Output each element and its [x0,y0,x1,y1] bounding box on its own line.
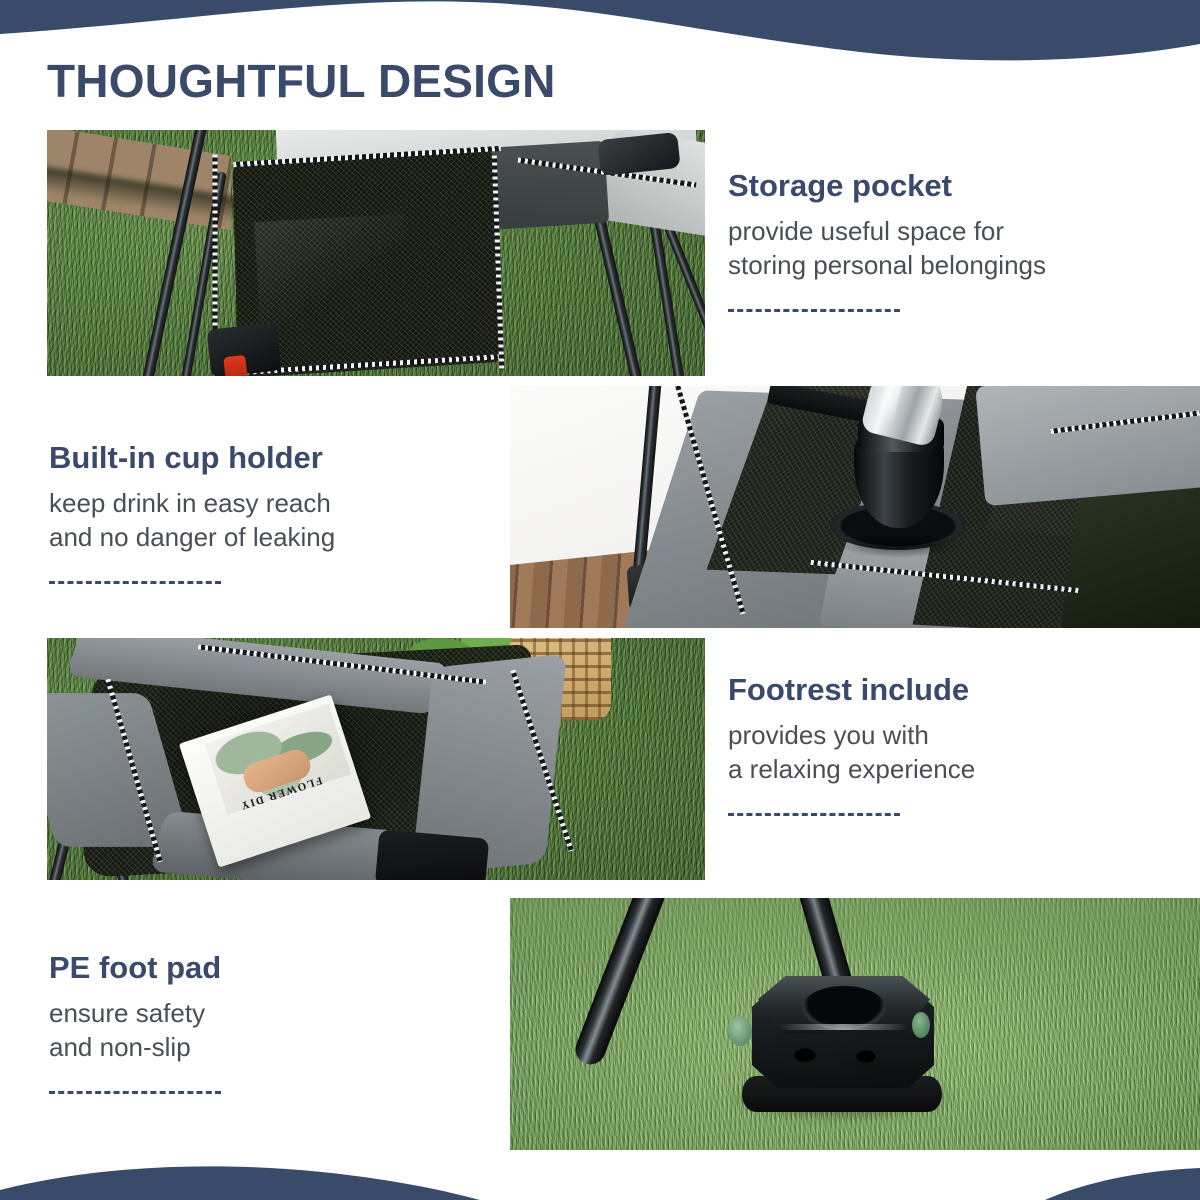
feature-body-line: and non-slip [49,1030,221,1065]
feature-body: ensure safety and non-slip [49,996,221,1065]
pe-foot-pad-hole-right [856,1050,876,1063]
feature-heading: Storage pocket [728,168,1046,205]
feature-body: keep drink in easy reach and no danger o… [49,486,335,555]
navy-wave-bottom-right [1045,1168,1200,1200]
feature-body: provide useful space for storing persona… [728,214,1046,283]
feature-body-line: a relaxing experience [728,752,975,787]
mesh-pocket-fold [254,214,410,332]
feature-body-line: keep drink in easy reach [49,486,335,521]
armrest-flap-right [975,386,1200,506]
dashed-rule [728,813,900,816]
cup-holder-shadow [836,536,964,558]
feature-body-line: and no danger of leaking [49,520,335,555]
navy-wave-bottom-left [0,1169,470,1200]
feature-heading: PE foot pad [49,950,221,987]
feature-image-storage-pocket [47,130,705,376]
feature-text-storage-pocket: Storage pocket provide useful space for … [728,168,1046,312]
pe-foot-pad-hole-left [794,1048,816,1062]
feature-body-line: provides you with [728,718,975,753]
feature-image-pe-foot-pad [510,898,1200,1150]
green-rivet-right [912,1012,930,1038]
feature-image-cup-holder [510,386,1200,628]
red-release-button [223,355,248,376]
footrest-corner-black [375,829,489,880]
feature-heading: Footrest include [728,672,975,709]
feature-text-cup-holder: Built-in cup holder keep drink in easy r… [49,440,335,584]
navy-wave-bottom-left-main [0,1166,480,1200]
feature-body-line: provide useful space for [728,214,1046,249]
page-title: THOUGHTFUL DESIGN [47,58,556,104]
feature-body-line: storing personal belongings [728,248,1046,283]
green-rivet-left [728,1016,752,1046]
navy-wave-top [0,0,1200,60]
dashed-rule [728,309,900,312]
feature-image-footrest: FLOWER DIY [47,638,705,880]
infographic-page: THOUGHTFUL DESIGN [0,0,1200,1200]
feature-text-pe-foot-pad: PE foot pad ensure safety and non-slip [49,950,221,1094]
pe-foot-pad-highlight [778,1024,908,1030]
dashed-rule [49,581,221,584]
feature-text-footrest: Footrest include provides you with a rel… [728,672,975,816]
feature-heading: Built-in cup holder [49,440,335,477]
mesh-panel-right-dark [1059,486,1200,628]
feature-body: provides you with a relaxing experience [728,718,975,787]
feature-body-line: ensure safety [49,996,221,1031]
dashed-rule [49,1091,221,1094]
